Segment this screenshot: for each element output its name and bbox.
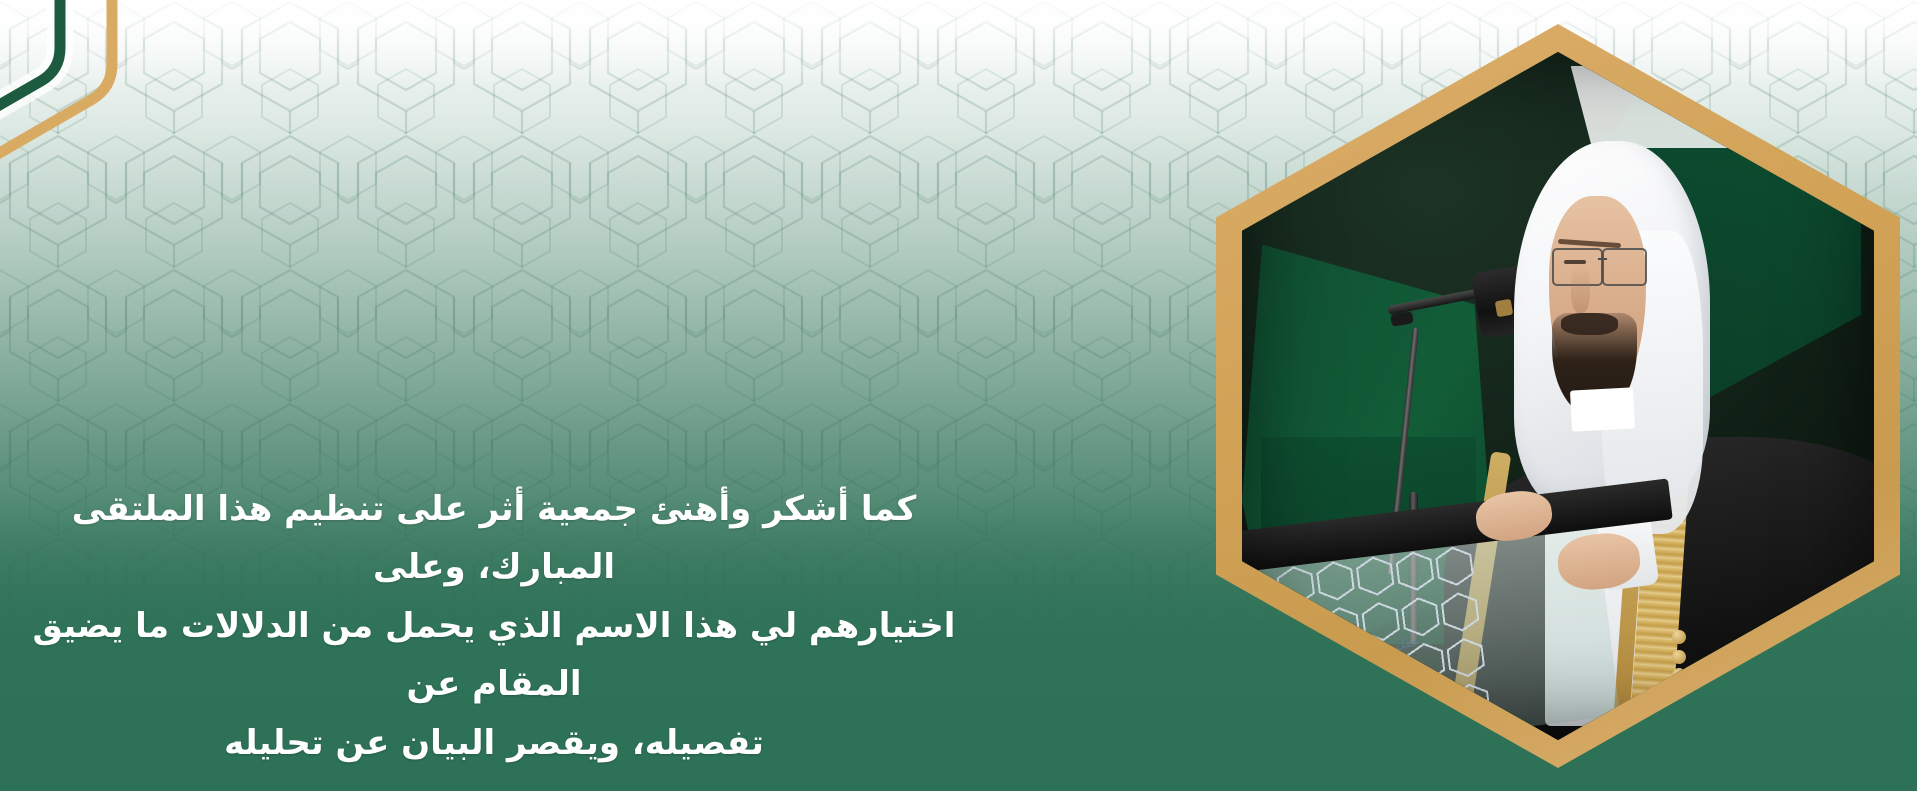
quote-line-1: كما أشكر وأهنئ جمعية أثر على تنظيم هذا ا… — [14, 480, 974, 597]
quote-text: كما أشكر وأهنئ جمعية أثر على تنظيم هذا ا… — [14, 480, 974, 772]
speaker-photo-frame: دار الندوة — [1216, 24, 1900, 768]
quote-line-3: تفصيله، ويقصر البيان عن تحليله — [14, 714, 974, 772]
quote-line-2: اختيارهم لي هذا الاسم الذي يحمل من الدلا… — [14, 597, 974, 714]
banner-canvas: دار الندوة — [0, 0, 1917, 791]
